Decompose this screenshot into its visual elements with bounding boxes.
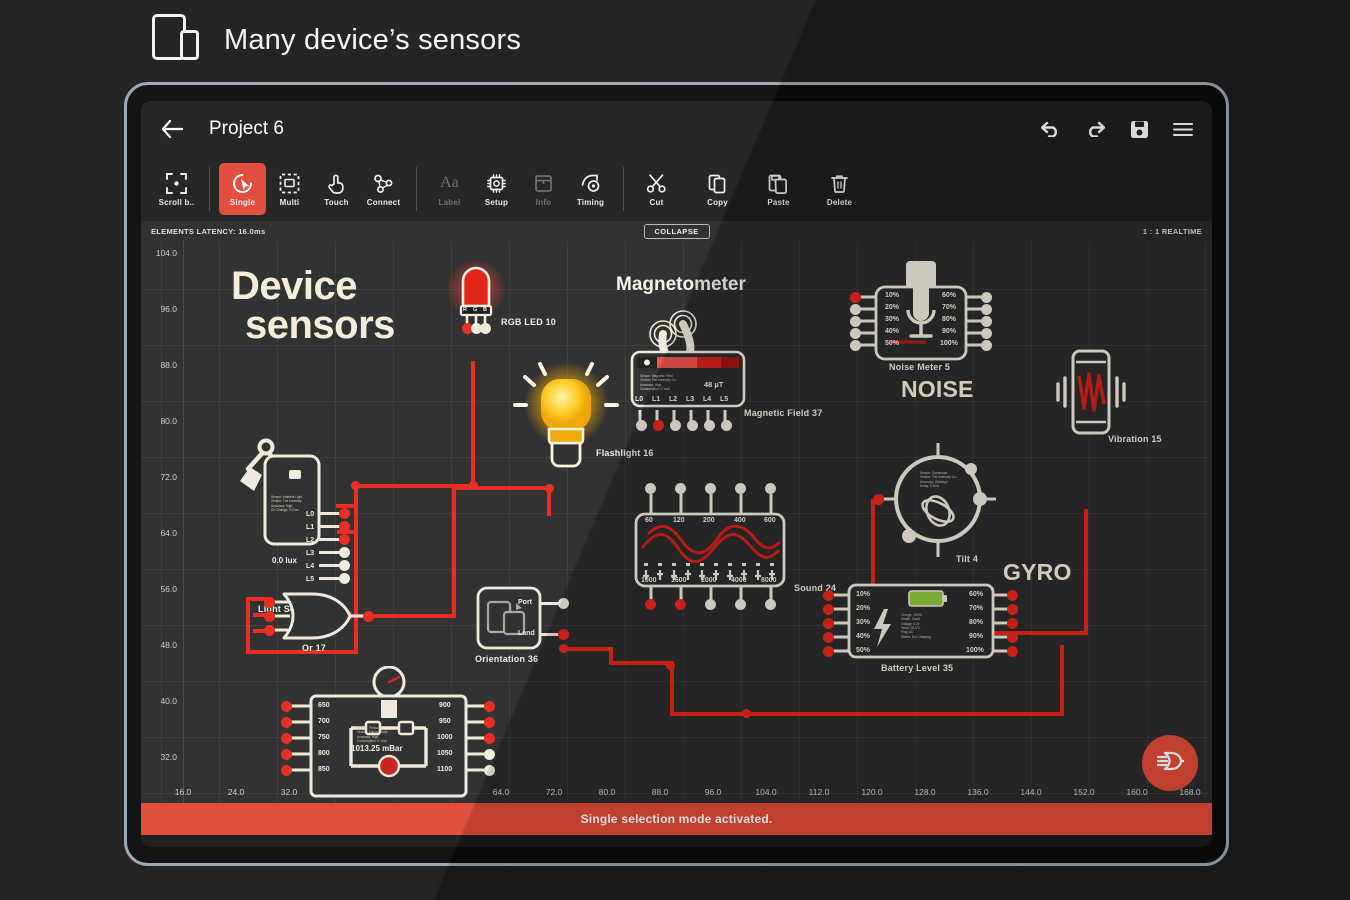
y-tick: 56.0 [160,584,177,594]
pin-label: 850 [318,766,330,773]
band-label: 8000 [761,577,777,584]
component-pin[interactable] [636,420,647,431]
wire-junction [559,644,568,653]
app-window: Project 6 Scroll b.. [141,101,1212,847]
component-pin[interactable] [264,625,275,636]
poster-caption: Many device’s sensors [152,14,521,66]
component-label: Noise Meter 5 [889,362,950,372]
component-pin[interactable] [765,599,776,610]
component-pin[interactable] [765,483,776,494]
band-label: 600 [764,517,776,524]
component-label: Tilt 4 [956,554,978,564]
pin-label: 650 [318,702,330,709]
band-label: 1600 [671,577,687,584]
text-label-icon: Aa [440,171,459,195]
component-label: Magnetic Field 37 [744,408,822,418]
component-pin[interactable] [850,304,861,315]
tool-label: Delete [827,198,852,207]
component-sound[interactable]: 60 120 200 400 600 1000 1600 2000 4000 8… [626,486,791,626]
copy-icon [707,171,728,195]
pin-lead [539,602,560,605]
tool-label[interactable]: Aa Label [426,163,473,215]
pin-label: Land [518,630,535,637]
component-label: RGB LED 10 [501,317,556,327]
tool-label: Multi [280,198,300,207]
component-pin[interactable] [850,328,861,339]
sensor-reading: 48 µT [704,380,723,389]
y-tick: 96.0 [160,304,177,314]
pin-label: 90% [969,633,983,640]
tool-scroll-board[interactable]: Scroll b.. [153,163,200,215]
paste-icon [768,171,789,195]
app-bar: Project 6 [141,101,1212,157]
add-gate-icon [1156,749,1184,778]
toolbar-divider [209,167,210,211]
wire-segment [452,486,551,490]
pin-label: 20% [856,605,870,612]
wire-junction [742,709,751,718]
canvas-title-line1: Device [231,267,395,306]
component-pin[interactable] [339,573,350,584]
pin-label: L2 [306,537,314,544]
component-pin[interactable] [735,599,746,610]
tool-cut[interactable]: Cut [633,163,680,215]
component-pin[interactable] [1007,632,1018,643]
pin-label: L0 [306,511,314,518]
wire-segment [670,661,674,716]
tool-bar: Scroll b.. Single Multi Touch Conn [141,157,1212,221]
pin-label: 50% [856,647,870,654]
component-pin[interactable] [339,560,350,571]
band-label: 400 [734,517,746,524]
pin-label: 1100 [437,766,452,773]
tool-label: Touch [324,198,348,207]
component-pin[interactable] [484,749,495,760]
pin-label: L5 [306,576,314,583]
wire-segment [561,647,613,651]
pin-label: 900 [439,702,451,709]
canvas-title: Device sensors [231,267,395,345]
component-pin[interactable] [645,599,656,610]
x-tick: 72.0 [546,787,563,797]
circuit-canvas[interactable]: 104.0 96.0 88.0 80.0 72.0 64.0 56.0 48.0… [141,241,1212,803]
info-box-icon [533,171,554,195]
magnetometer-section-title: Magnetometer [616,274,746,296]
tool-label: Scroll b.. [159,198,195,207]
x-tick: 160.0 [1126,787,1147,797]
component-pin[interactable] [281,765,292,776]
component-pin[interactable] [645,483,656,494]
wire-segment [1084,509,1088,634]
component-label: Flashlight 16 [596,448,654,458]
pin-lead [319,551,341,554]
component-pin[interactable] [484,733,495,744]
pin-label: L4 [306,563,314,570]
tool-timing[interactable]: Timing [567,163,614,215]
component-pin[interactable] [281,717,292,728]
pin-lead [319,525,341,528]
y-tick: 80.0 [160,416,177,426]
component-light-sensor[interactable]: Sensor: Ambient Light Vendor: The Invens… [236,431,336,556]
component-label: Battery Level 35 [881,663,953,673]
pin-lead [319,564,341,567]
x-tick: 88.0 [652,787,669,797]
component-pin[interactable] [823,632,834,643]
appbar-actions [1040,118,1194,140]
y-axis: 104.0 96.0 88.0 80.0 72.0 64.0 56.0 48.0… [141,241,183,803]
x-tick: 16.0 [175,787,192,797]
wire-segment [471,361,475,488]
back-arrow-icon[interactable] [155,112,189,146]
tool-label: Connect [367,198,400,207]
component-pin[interactable] [339,534,350,545]
trash-icon [829,171,850,195]
component-or-gate[interactable]: Or 17 [266,586,371,651]
multi-select-icon [279,171,300,195]
pin-label: B [483,307,487,313]
component-pin[interactable] [705,599,716,610]
x-tick: 96.0 [705,787,722,797]
component-rgb-led[interactable]: R G B RGB LED 10 [441,259,511,344]
pin-label: 1000 [437,734,453,741]
tool-connect[interactable]: Connect [360,163,407,215]
sensor-reading: 1013.25 mBar [351,744,403,753]
component-pin[interactable] [1007,646,1018,657]
toolbar-divider [416,167,417,211]
pin-label: L5 [720,396,728,403]
y-tick: 72.0 [160,472,177,482]
component-pin[interactable] [850,316,861,327]
pin-label: 100% [966,647,984,654]
component-description: Sensor: Gyroscope Vendor: The Invensity … [920,471,958,488]
tool-delete[interactable]: Delete [816,163,863,215]
pin-label: 10% [856,591,870,598]
add-component-fab[interactable] [1142,735,1198,791]
wire-segment [246,597,250,653]
component-description: Sensor: Pressure Vendor: The Invensity A… [357,726,388,743]
component-pin[interactable] [873,494,884,505]
tool-copy[interactable]: Copy [694,163,741,215]
component-label: Vibration 15 [1108,434,1162,444]
canvas-info-strip: ELEMENTS LATENCY: 16.0ms COLLAPSE 1 : 1 … [141,221,1212,241]
component-pin[interactable] [850,340,861,351]
wire-junction [351,481,360,490]
redo-icon[interactable] [1084,118,1106,140]
wire-segment [452,488,456,618]
pin-label: 10% [885,292,899,299]
component-label: Or 17 [302,643,326,653]
pin-label: 100% [940,340,958,347]
tool-label: Cut [650,198,664,207]
component-pin[interactable] [339,521,350,532]
y-tick: 64.0 [160,528,177,538]
component-pin[interactable] [721,420,732,431]
band-label: 60 [645,517,653,524]
y-tick: 48.0 [160,640,177,650]
pin-label: 60% [942,292,956,299]
component-pin[interactable] [558,629,569,640]
component-tilt[interactable]: Sensor: Gyroscope Vendor: The Invensity … [876,441,1001,566]
component-pin[interactable] [264,611,275,622]
single-select-icon [232,171,253,195]
component-pin[interactable] [480,323,491,334]
tablet-frame: Project 6 Scroll b.. [124,82,1229,866]
component-pin[interactable] [281,701,292,712]
toolbar-divider [623,167,624,211]
pin-label: 40% [885,328,899,335]
component-pin[interactable] [981,328,992,339]
tool-label-text: Label [439,198,461,207]
component-pin[interactable] [823,604,834,615]
y-tick: 40.0 [160,696,177,706]
component-pin[interactable] [850,292,861,303]
wire-segment [871,499,875,589]
tool-label: Timing [577,198,604,207]
component-pin[interactable] [704,420,715,431]
x-tick: 136.0 [967,787,988,797]
pin-label: 90% [942,328,956,335]
tool-label: Setup [485,198,508,207]
pin-label: L1 [306,524,314,531]
component-pin[interactable] [670,420,681,431]
pin-label: 20% [885,304,899,311]
pin-lead [319,512,341,515]
tool-label: Paste [767,198,789,207]
section-title: Magnetometer [616,274,746,296]
y-axis-line [183,241,184,803]
snackbar-message: Single selection mode activated. [581,812,773,826]
undo-icon[interactable] [1040,118,1062,140]
pin-label: L0 [635,396,643,403]
elements-latency-text: ELEMENTS LATENCY: 16.0ms [151,227,265,236]
pin-label: 80% [942,316,956,323]
x-tick: 104.0 [755,787,776,797]
tool-paste[interactable]: Paste [755,163,802,215]
x-tick: 152.0 [1073,787,1094,797]
collapse-button[interactable]: COLLAPSE [643,224,709,239]
menu-icon[interactable] [1172,118,1194,140]
page-title: Project 6 [209,118,284,140]
x-tick: 120.0 [861,787,882,797]
tool-info[interactable]: Info [520,163,567,215]
component-flashlight[interactable]: Flashlight 16 [511,361,621,481]
component-pin[interactable] [981,292,992,303]
x-tick: 24.0 [228,787,245,797]
wire-junction [545,484,554,493]
x-tick: 128.0 [914,787,935,797]
component-pin[interactable] [981,316,992,327]
pin-lead [319,538,341,541]
band-label: 1000 [641,577,657,584]
component-battery-level[interactable]: Charge: 100% Health: Good Voltage: 4.2v … [821,581,1021,681]
scissors-icon [646,171,667,195]
component-pin[interactable] [484,765,495,776]
pin-label: Port [518,599,532,606]
component-pin[interactable] [705,483,716,494]
component-label: Orientation 36 [475,654,538,664]
band-label: 200 [703,517,715,524]
y-tick: 88.0 [160,360,177,370]
band-label: 2000 [701,577,717,584]
tool-touch[interactable]: Touch [313,163,360,215]
tool-label: Single [230,198,255,207]
component-pin[interactable] [675,599,686,610]
tool-single[interactable]: Single [219,163,266,215]
pin-label: 60% [969,591,983,598]
tool-label: Copy [707,198,728,207]
component-pin[interactable] [281,733,292,744]
chip-setup-icon [486,171,507,195]
pin-label: 80% [969,619,983,626]
sensor-reading: 0.0 lux [272,556,297,565]
devices-icon [152,14,202,66]
component-pin[interactable] [1007,604,1018,615]
tool-label: Info [536,198,551,207]
pin-label: 70% [942,304,956,311]
connect-nodes-icon [373,171,394,195]
x-tick: 80.0 [599,787,616,797]
component-magnetic-field[interactable]: Sensor: Magnetic Field Vendor: The Inven… [626,306,756,441]
component-pin[interactable] [281,749,292,760]
component-pin[interactable] [484,717,495,728]
component-pin[interactable] [558,598,569,609]
noise-shout-text: NOISE [901,376,974,403]
canvas-title-line2: sensors [245,306,395,345]
component-vibration[interactable]: Vibration 15 [1046,346,1136,451]
component-pin[interactable] [687,420,698,431]
realtime-scale-text: 1 : 1 REALTIME [1143,227,1202,236]
scroll-board-icon [166,171,187,195]
component-pin[interactable] [339,508,350,519]
timing-icon [580,171,601,195]
component-orientation[interactable]: Port Land Orientation 36 [476,586,546,661]
pin-label: 40% [856,633,870,640]
component-description: Charge: 100% Health: Good Voltage: 4.2v … [901,613,931,639]
pin-label: R [463,307,467,313]
component-pin[interactable] [823,590,834,601]
component-noise-meter[interactable]: 10% 20% 30% 40% 50% 60% 70% 80% 90% 100%… [841,261,1001,381]
component-pin[interactable] [675,483,686,494]
wire-segment [1060,645,1064,715]
component-pin[interactable] [339,547,350,558]
caption-text: Many device’s sensors [224,24,521,57]
wire-segment [609,661,671,665]
tool-setup[interactable]: Setup [473,163,520,215]
pin-label: L4 [703,396,711,403]
pin-lead [319,577,341,580]
pin-label: L3 [686,396,694,403]
save-icon[interactable] [1128,118,1150,140]
touch-hand-icon [326,171,347,195]
component-pin[interactable] [1007,590,1018,601]
band-label: 120 [673,517,685,524]
pin-label: 50% [885,340,899,347]
tool-multi[interactable]: Multi [266,163,313,215]
component-pin[interactable] [1007,618,1018,629]
pin-label: 30% [856,619,870,626]
pin-label: L3 [306,550,314,557]
component-description: Sensor: Ambient Light Vendor: The Invens… [271,495,302,512]
component-pin[interactable] [823,646,834,657]
pin-label: 800 [318,750,330,757]
component-pin[interactable] [981,340,992,351]
pin-lead [539,633,560,636]
x-tick: 168.0 [1179,787,1200,797]
pin-label: 30% [885,316,899,323]
pin-label: 700 [318,718,330,725]
pin-label: 70% [969,605,983,612]
component-pin[interactable] [363,611,374,622]
status-snackbar: Single selection mode activated. [141,803,1212,835]
band-label: 4000 [731,577,747,584]
wire-segment [670,712,1064,716]
component-pin[interactable] [484,701,495,712]
pin-label: 950 [439,718,451,725]
component-barometer[interactable]: Sensor: Pressure Vendor: The Invensity A… [281,666,496,803]
shout-label: NOISE [901,376,974,403]
pin-label: L1 [652,396,660,403]
component-pin[interactable] [264,597,275,608]
component-pin[interactable] [981,304,992,315]
component-pin[interactable] [653,420,664,431]
pin-label: G [473,307,477,313]
pin-label: L2 [669,396,677,403]
y-tick: 104.0 [156,248,177,258]
x-tick: 144.0 [1020,787,1041,797]
y-tick: 32.0 [160,752,177,762]
component-pin[interactable] [823,618,834,629]
pin-label: 750 [318,734,330,741]
pin-label: 1050 [437,750,453,757]
x-tick: 112.0 [809,787,830,797]
component-description: Sensor: Magnetic Field Vendor: The Inven… [640,374,678,391]
component-pin[interactable] [735,483,746,494]
